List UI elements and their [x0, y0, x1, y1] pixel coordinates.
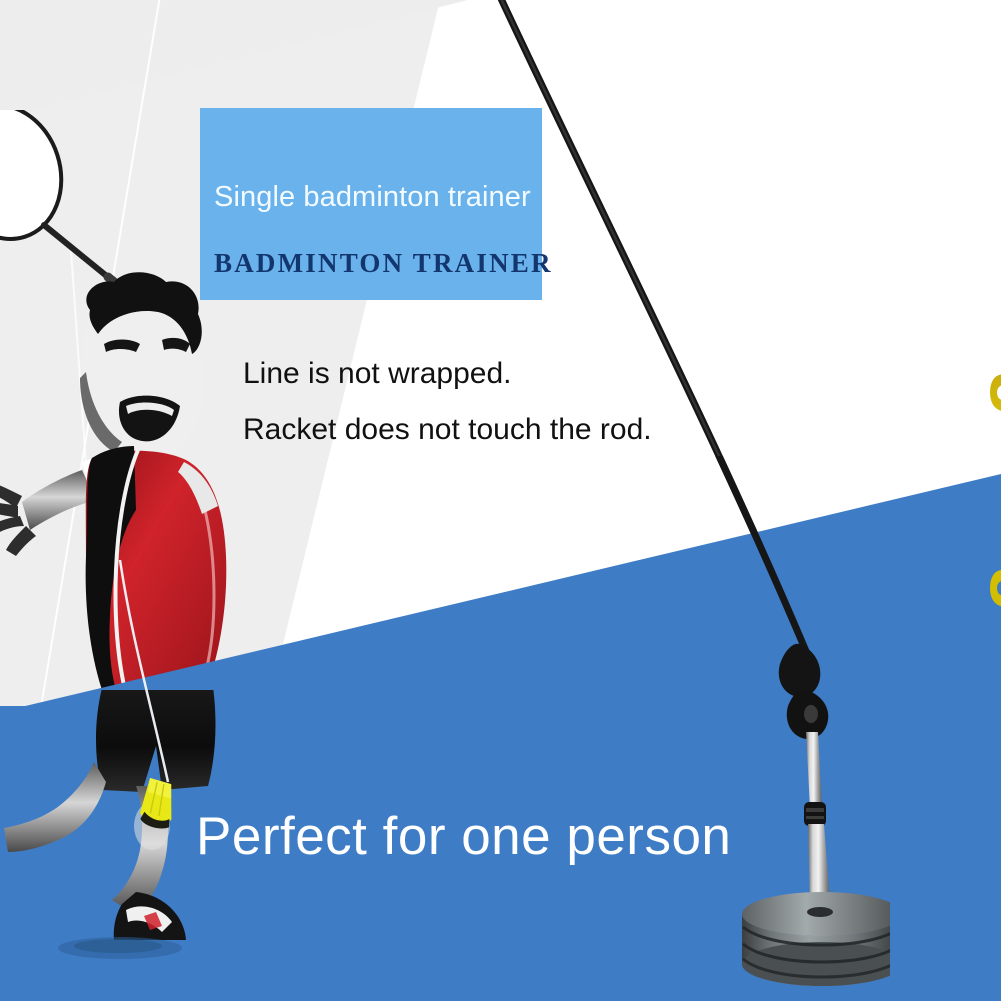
bottom-tagline: Perfect for one person [196, 806, 731, 867]
product-poster: Single badminton trainer BADMINTON TRAIN… [0, 0, 1001, 1001]
athlete-jersey [86, 446, 227, 696]
vertical-headline: Who is fighting? [988, 36, 1001, 656]
athlete-head [80, 272, 204, 459]
